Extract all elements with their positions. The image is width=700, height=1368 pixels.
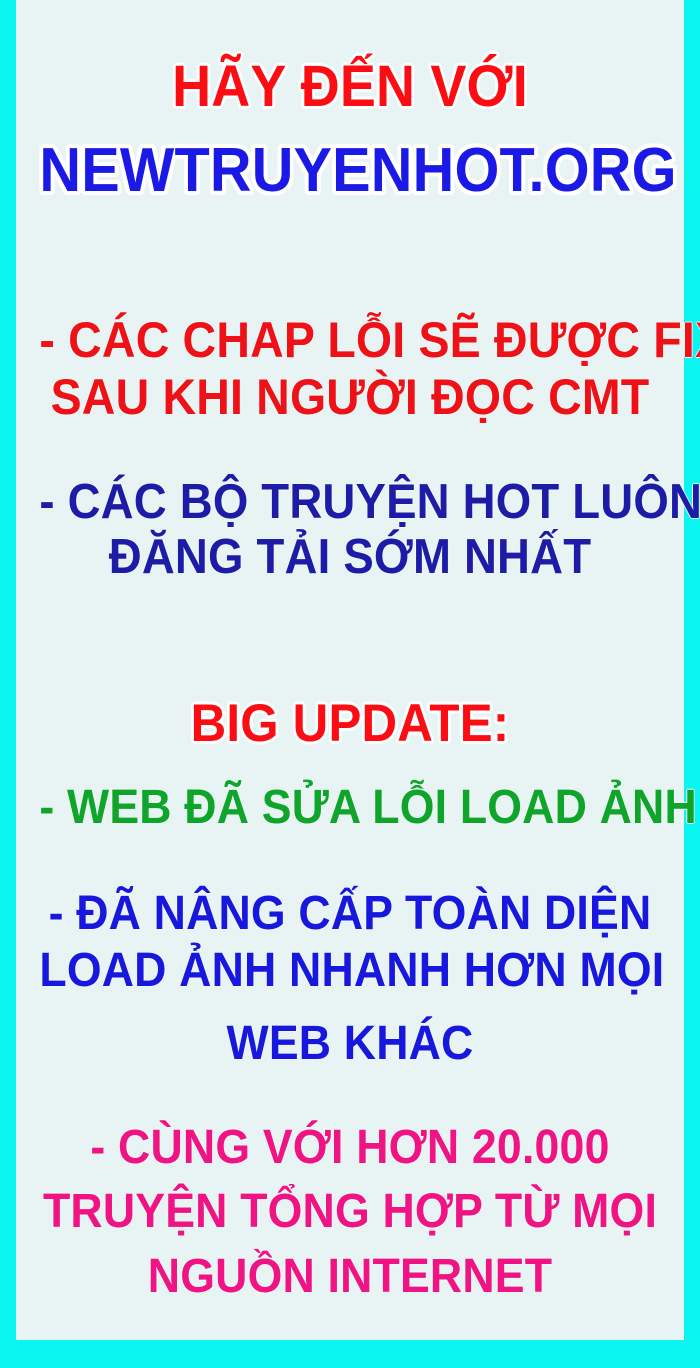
promo-banner: HÃY ĐẾN VỚI NEWTRUYENHOT.ORG - CÁC CHAP …	[0, 0, 700, 1368]
big-update-heading: BIG UPDATE:	[39, 697, 660, 750]
text-stack: HÃY ĐẾN VỚI NEWTRUYENHOT.ORG - CÁC CHAP …	[16, 0, 684, 1340]
banner-panel: HÃY ĐẾN VỚI NEWTRUYENHOT.ORG - CÁC CHAP …	[16, 0, 684, 1340]
story-count-line-1: - CÙNG VỚI HƠN 20.000	[39, 1124, 660, 1172]
hot-series-line-2: ĐĂNG TẢI SỚM NHẤT	[39, 533, 660, 582]
fix-chapters-line-1: - CÁC CHAP LỖI SẼ ĐƯỢC FIX	[39, 315, 660, 365]
site-name: NEWTRUYENHOT.ORG	[39, 140, 660, 202]
story-count-line-2: TRUYỆN TỔNG HỢP TỪ MỌI	[39, 1188, 660, 1236]
story-count-line-3: NGUỒN INTERNET	[39, 1253, 660, 1301]
image-load-fixed-line-1: - WEB ĐÃ SỬA LỖI LOAD ẢNH	[39, 784, 660, 832]
full-upgrade-line-2: LOAD ẢNH NHANH HƠN MỌI	[39, 947, 660, 995]
headline-invite: HÃY ĐẾN VỚI	[39, 58, 660, 116]
fix-chapters-line-2: SAU KHI NGƯỜI ĐỌC CMT	[39, 372, 660, 422]
full-upgrade-line-3: WEB KHÁC	[39, 1020, 660, 1068]
full-upgrade-line-1: - ĐÃ NÂNG CẤP TOÀN DIỆN	[39, 890, 660, 938]
hot-series-line-1: - CÁC BỘ TRUYỆN HOT LUÔN	[39, 478, 660, 527]
